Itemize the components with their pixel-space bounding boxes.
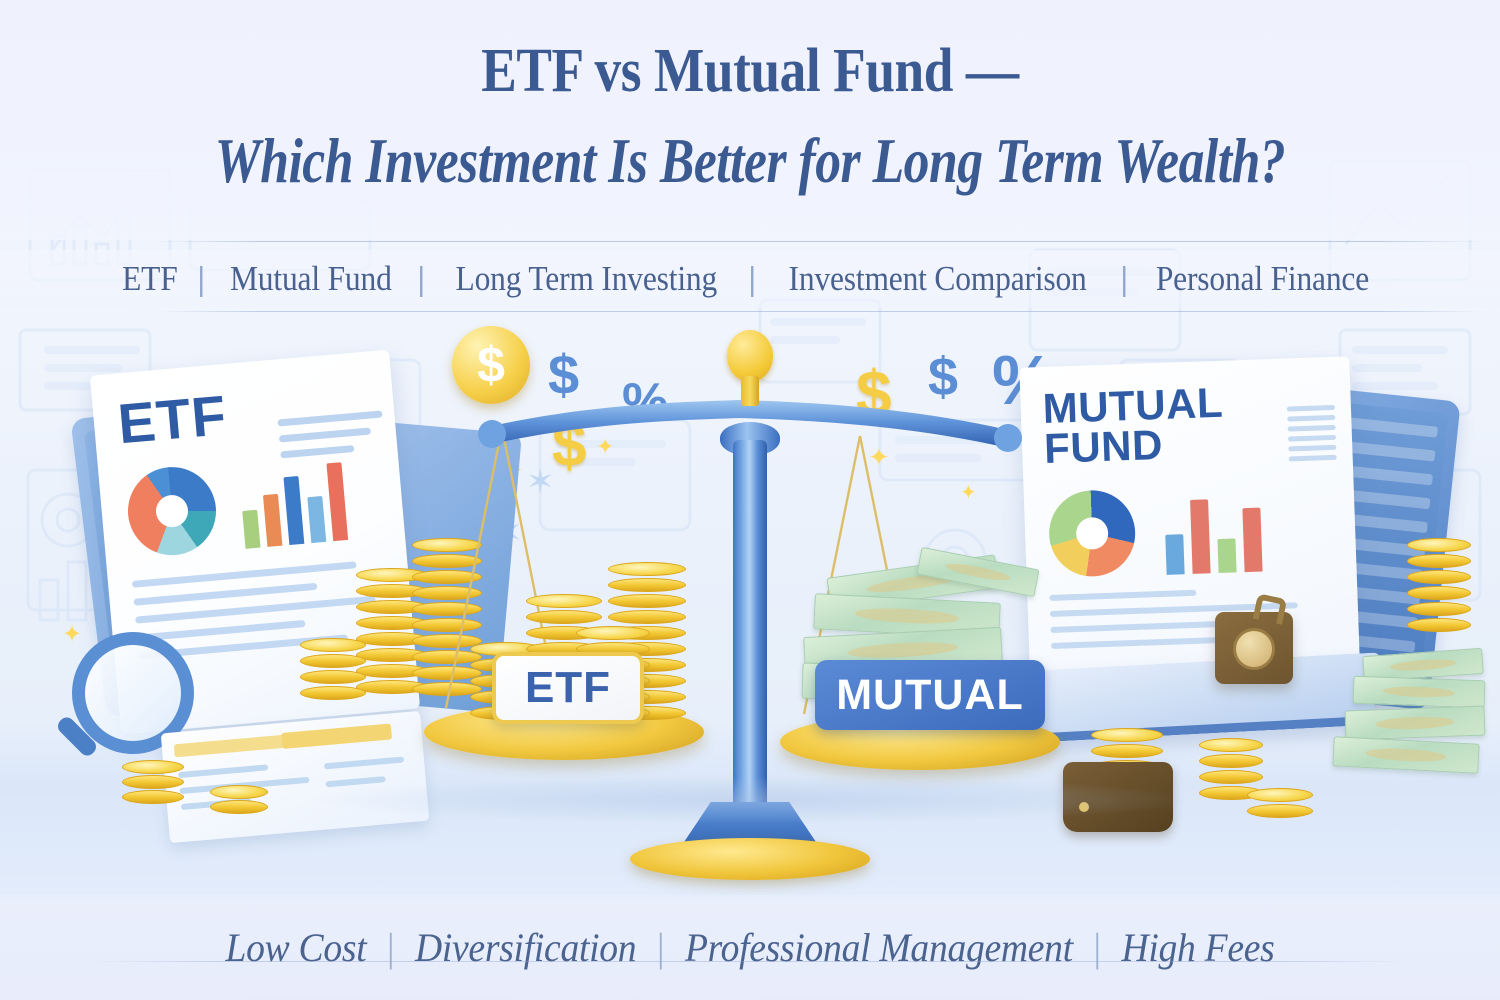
footer-separator: | — [366, 925, 415, 970]
mutual-plaque: MUTUAL — [815, 660, 1045, 730]
mutual-fund-report-screen: MUTUAL FUND — [1019, 356, 1360, 697]
footer-keyword: High Fees — [1121, 925, 1274, 970]
tag-separator: | — [736, 260, 769, 298]
etf-plaque: ETF — [492, 652, 644, 724]
tag-item[interactable]: ETF — [120, 259, 179, 299]
tagbar-rule-bottom — [155, 311, 1485, 312]
tag-separator: | — [184, 260, 217, 298]
coin-stack — [300, 628, 366, 700]
scale-base-disc — [630, 838, 870, 880]
scale-neck — [741, 376, 759, 406]
coin-stack — [210, 772, 268, 814]
etf-document-heading: ETF — [115, 382, 229, 456]
scale-pillar — [733, 440, 767, 820]
scale-top-knob — [727, 330, 773, 382]
illustration-scene: $ $ % $ $ $ % ✦ ✦ ✦ ✦ ✦ ✦ ✦ ✶ ✶ ETF — [0, 312, 1500, 902]
page-title-line-2: Which Investment Is Better for Long Term… — [135, 125, 1365, 198]
footer-separator: | — [1073, 925, 1122, 970]
tag-item[interactable]: Mutual Fund — [228, 259, 393, 299]
tagbar-rule-top — [155, 241, 1485, 242]
tag-item[interactable]: Personal Finance — [1154, 259, 1371, 299]
footer-keywords: Low Cost|Diversification|Professional Ma… — [225, 924, 1274, 971]
footer-rule — [90, 961, 1410, 962]
cash-stack — [1345, 706, 1486, 741]
tag-bar: ETF|Mutual Fund|Long Term Investing|Inve… — [0, 250, 1500, 308]
footer-keyword: Diversification — [415, 925, 636, 970]
infographic-canvas: $ $ % $ $ $ % ✦ ✦ ✦ ✦ ✦ ✦ ✦ ✶ ✶ ETF — [0, 0, 1500, 1000]
coin-stack — [1407, 528, 1471, 632]
mutual-fund-header-lines — [1287, 405, 1337, 467]
tag-item[interactable]: Investment Comparison — [787, 259, 1089, 299]
tag-item[interactable]: Long Term Investing — [454, 259, 719, 299]
tag-separator: | — [405, 260, 438, 298]
header-band: ETF vs Mutual Fund — Which Investment Is… — [0, 0, 1500, 240]
etf-donut-chart — [124, 463, 219, 558]
cash-stack — [1353, 676, 1486, 709]
page-title-line-1: ETF vs Mutual Fund — — [105, 36, 1395, 107]
coin-stack — [1247, 774, 1313, 818]
mutual-fund-bar-chart — [1164, 489, 1287, 575]
coin-stack — [122, 748, 184, 804]
laptop-device: MUTUAL FUND — [1025, 362, 1355, 692]
footer-separator: | — [636, 925, 685, 970]
cash-stack — [1332, 736, 1479, 774]
vintage-clock-wallet-icon — [1215, 612, 1293, 684]
etf-bar-chart — [238, 453, 365, 549]
tag-separator: | — [1107, 260, 1140, 298]
floor-shadow — [300, 776, 1200, 824]
footer-keyword: Professional Management — [685, 925, 1073, 970]
footer-band: Low Cost|Diversification|Professional Ma… — [0, 895, 1500, 1000]
footer-keyword: Low Cost — [225, 925, 366, 970]
